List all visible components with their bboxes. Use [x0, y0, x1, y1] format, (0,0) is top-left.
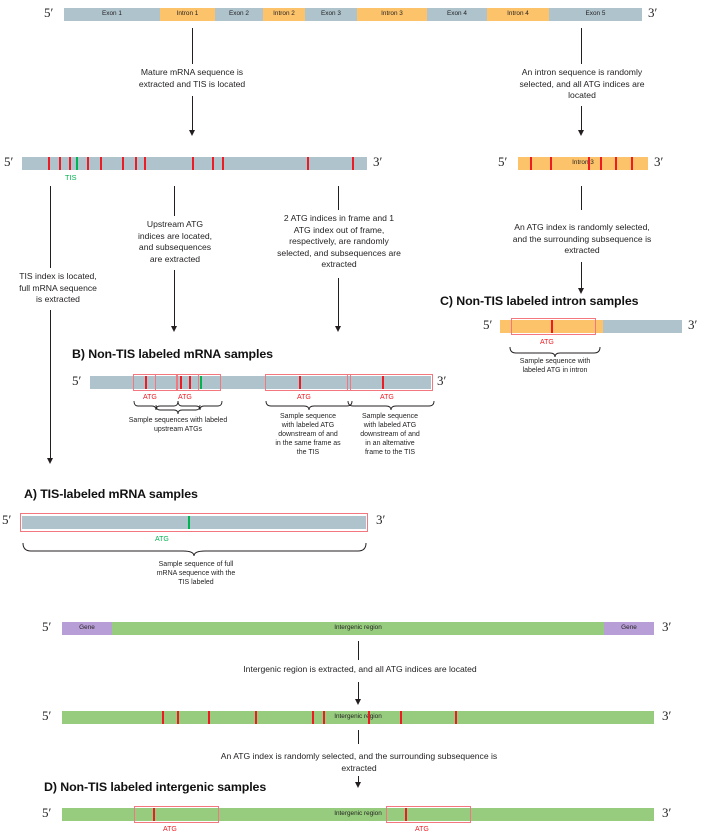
c-sample-caption: Sample sequence with labeled ATG in intr…: [501, 357, 609, 375]
c-atg-label: ATG: [540, 339, 554, 346]
branch-line-upstream-2: [174, 270, 175, 328]
mrna-atg-tick-13: [352, 157, 354, 170]
branch-line-twoatg-2: [338, 278, 339, 328]
intergenic-atg-tick-9: [455, 711, 457, 724]
gene-segment-label: Exon 3: [321, 11, 341, 17]
a-track-3prime: 3′: [376, 513, 385, 526]
gene-segment-exon-3: Exon 3: [305, 8, 357, 21]
intergenic-atg-tick-7: [368, 711, 370, 724]
arrow-head-intergenic-sample: [355, 782, 361, 788]
arrow-line-intron-bottom: [581, 106, 582, 132]
b-atg-label-4: ATG: [380, 394, 394, 401]
d-sample-box-2: [386, 806, 471, 823]
arrow-head-twoatg: [335, 326, 341, 332]
mrna-atg-tick-11: [222, 157, 224, 170]
gene-segment-label: Exon 2: [229, 11, 249, 17]
step-atg-surrounding-intergenic-text: An ATG index is randomly selected, and t…: [166, 751, 552, 774]
heading-d: D) Non-TIS labeled intergenic samples: [44, 780, 266, 794]
b-brace-upstream-3: [177, 401, 223, 410]
gene-segment-exon-2: Exon 2: [215, 8, 263, 21]
mrna-atg-tick-8: [144, 157, 146, 170]
mrna-atg-tick-7: [135, 157, 137, 170]
gene-segment-intron-3: Intron 3: [357, 8, 427, 21]
arrow-line-intergenic-sample-top: [358, 730, 359, 744]
gene-segment-label: Exon 1: [102, 11, 122, 17]
intergenic-atg-tick-5: [312, 711, 314, 724]
arrow-head-upstream: [171, 326, 177, 332]
step-tis-index-text: TIS index is located, full mRNA sequence…: [0, 271, 118, 306]
arrow-head-tis: [47, 458, 53, 464]
d-track-5prime: 5′: [42, 806, 51, 819]
heading-c: C) Non-TIS labeled intron samples: [440, 294, 638, 308]
intergenic-full-5prime: 5′: [42, 620, 51, 633]
d-atg-label-2: ATG: [415, 826, 429, 833]
branch-line-intron-sample-2: [581, 262, 582, 290]
step-atg-surrounding-intron-text: An ATG index is randomly selected, and t…: [487, 222, 677, 257]
arrow-head-intron: [578, 130, 584, 136]
intron-track-5prime: 5′: [498, 155, 507, 168]
intergenic-atg-tick-6: [323, 711, 325, 724]
branch-line-tis-2: [50, 310, 51, 460]
mrna-atg-tick-9: [192, 157, 194, 170]
mrna-track-5prime: 5′: [4, 155, 13, 168]
heading-a: A) TIS-labeled mRNA samples: [24, 487, 198, 501]
tis-label: TIS: [65, 174, 77, 181]
mrna-atg-tick-12: [307, 157, 309, 170]
intergenic-atg-tick-8: [400, 711, 402, 724]
arrow-line-intron-top: [581, 28, 582, 64]
arrow-line-intergenic-top: [358, 641, 359, 660]
gene-segment-intron-4: Intron 4: [487, 8, 549, 21]
mrna-atg-tick-10: [212, 157, 214, 170]
b-brace-same-frame: [265, 401, 353, 410]
step-upstream-atg-text: Upstream ATG indices are located, and su…: [124, 219, 226, 265]
step-intron-selected-text: An intron sequence is randomly selected,…: [486, 67, 678, 102]
b-box-upstream-3: [177, 374, 221, 391]
d-atg-label-1: ATG: [163, 826, 177, 833]
intergenic-ticks-label-wrap: Intergenic region: [62, 711, 654, 724]
gene-segment-exon-1: Exon 1: [64, 8, 160, 21]
arrow-line-mature-mrna-top: [192, 28, 193, 64]
arrow-head-intergenic: [355, 699, 361, 705]
intron-atg-tick-3: [588, 157, 590, 170]
mrna-atg-tick-6: [122, 157, 124, 170]
gene-segment-right: Gene: [604, 622, 654, 635]
mature-mrna-track: [22, 157, 367, 170]
a-track-5prime: 5′: [2, 513, 11, 526]
gene-left-label: Gene: [79, 625, 95, 631]
intergenic-atg-tick-3: [208, 711, 210, 724]
step-intergenic-extract-text: Intergenic region is extracted, and all …: [160, 664, 560, 676]
b-track-5prime: 5′: [72, 374, 81, 387]
intron-atg-tick-4: [600, 157, 602, 170]
intergenic-ticks-label: Intergenic region: [334, 714, 382, 720]
c-track-3prime: 3′: [688, 318, 697, 331]
step-two-atg-text: 2 ATG indices in frame and 1 ATG index o…: [262, 213, 416, 271]
mrna-track-3prime: 3′: [373, 155, 382, 168]
gene-track-3prime: 3′: [648, 6, 657, 19]
d-track-3prime: 3′: [662, 806, 671, 819]
branch-line-twoatg: [338, 186, 339, 210]
b-box-alt-frame: [347, 374, 433, 391]
intron3-segment-label: Intron 3: [518, 157, 648, 170]
intergenic-ticks-3prime: 3′: [662, 709, 671, 722]
gene-segment-intron-2: Intron 2: [263, 8, 305, 21]
step-mature-mrna-text: Mature mRNA sequence is extracted and TI…: [98, 67, 286, 90]
c-sample-brace: [508, 347, 602, 357]
intergenic-ticks-track: Intergenic region: [62, 711, 654, 724]
d-sample-box-1: [134, 806, 219, 823]
gene-track-5prime: 5′: [44, 6, 53, 19]
b-caption-same-frame: Sample sequence with labeled ATG downstr…: [263, 412, 353, 457]
b-atg-label-1: ATG: [143, 394, 157, 401]
mrna-atg-tick-3: [69, 157, 71, 170]
mrna-atg-tick-5: [100, 157, 102, 170]
branch-line-intron-sample: [581, 186, 582, 210]
gene-segment-label: Intron 4: [507, 11, 529, 17]
branch-line-tis: [50, 186, 51, 268]
intron-atg-tick-6: [631, 157, 633, 170]
b-track-3prime: 3′: [437, 374, 446, 387]
intergenic-atg-tick-2: [177, 711, 179, 724]
gene-segment-label: Exon 5: [586, 11, 606, 17]
b-atg-label-2: ATG: [178, 394, 192, 401]
b-caption-upstream: Sample sequences with labeled upstream A…: [116, 416, 240, 434]
mrna-atg-tick-4: [87, 157, 89, 170]
heading-b: B) Non-TIS labeled mRNA samples: [72, 347, 273, 361]
gene-segment-label: Intron 3: [381, 11, 403, 17]
b-atg-label-3: ATG: [297, 394, 311, 401]
gene-segment-exon-4: Exon 4: [427, 8, 487, 21]
a-sample-caption: Sample sequence of full mRNA sequence wi…: [140, 560, 252, 587]
intron3-label-text: Intron 3: [572, 160, 594, 166]
intergenic-segment: Intergenic region: [112, 622, 604, 635]
gene-segment-exon-5: Exon 5: [549, 8, 642, 21]
b-caption-alt-frame: Sample sequence with labeled ATG downstr…: [345, 412, 435, 457]
mrna-atg-tick-2: [59, 157, 61, 170]
intron3-track: Intron 3: [518, 157, 648, 170]
intron-track-3prime: 3′: [654, 155, 663, 168]
a-sample-box: [20, 513, 368, 532]
gene-segment-label: Intron 1: [177, 11, 199, 17]
b-brace-alt-frame: [347, 401, 435, 410]
gene-segment-label: Intron 2: [273, 11, 295, 17]
branch-line-upstream: [174, 186, 175, 216]
gene-right-label: Gene: [621, 625, 637, 631]
intergenic-ticks-5prime: 5′: [42, 709, 51, 722]
a-atg-label: ATG: [155, 536, 169, 543]
b-box-same-frame: [265, 374, 351, 391]
c-sample-box: [511, 318, 596, 335]
intergenic-full-label: Intergenic region: [334, 625, 382, 631]
gene-structure-track: Exon 1Intron 1Exon 2Intron 2Exon 3Intron…: [64, 8, 642, 21]
intergenic-atg-tick-4: [255, 711, 257, 724]
arrow-head-mature-mrna: [189, 130, 195, 136]
c-track-5prime: 5′: [483, 318, 492, 331]
intron-atg-tick-1: [530, 157, 532, 170]
gene-segment-label: Exon 4: [447, 11, 467, 17]
intron-atg-tick-5: [615, 157, 617, 170]
intergenic-full-track: Gene Intergenic region Gene: [62, 622, 654, 635]
mrna-atg-tick-1: [48, 157, 50, 170]
c-exon-segment: [603, 320, 682, 333]
arrow-line-mature-mrna-bottom: [192, 96, 193, 132]
mrna-tis-tick: [76, 157, 78, 170]
a-sample-brace: [20, 543, 370, 556]
gene-segment-left: Gene: [62, 622, 112, 635]
intron-atg-tick-2: [550, 157, 552, 170]
d-intergenic-label: Intergenic region: [334, 811, 382, 817]
intergenic-full-3prime: 3′: [662, 620, 671, 633]
gene-segment-intron-1: Intron 1: [160, 8, 215, 21]
intergenic-atg-tick-1: [162, 711, 164, 724]
